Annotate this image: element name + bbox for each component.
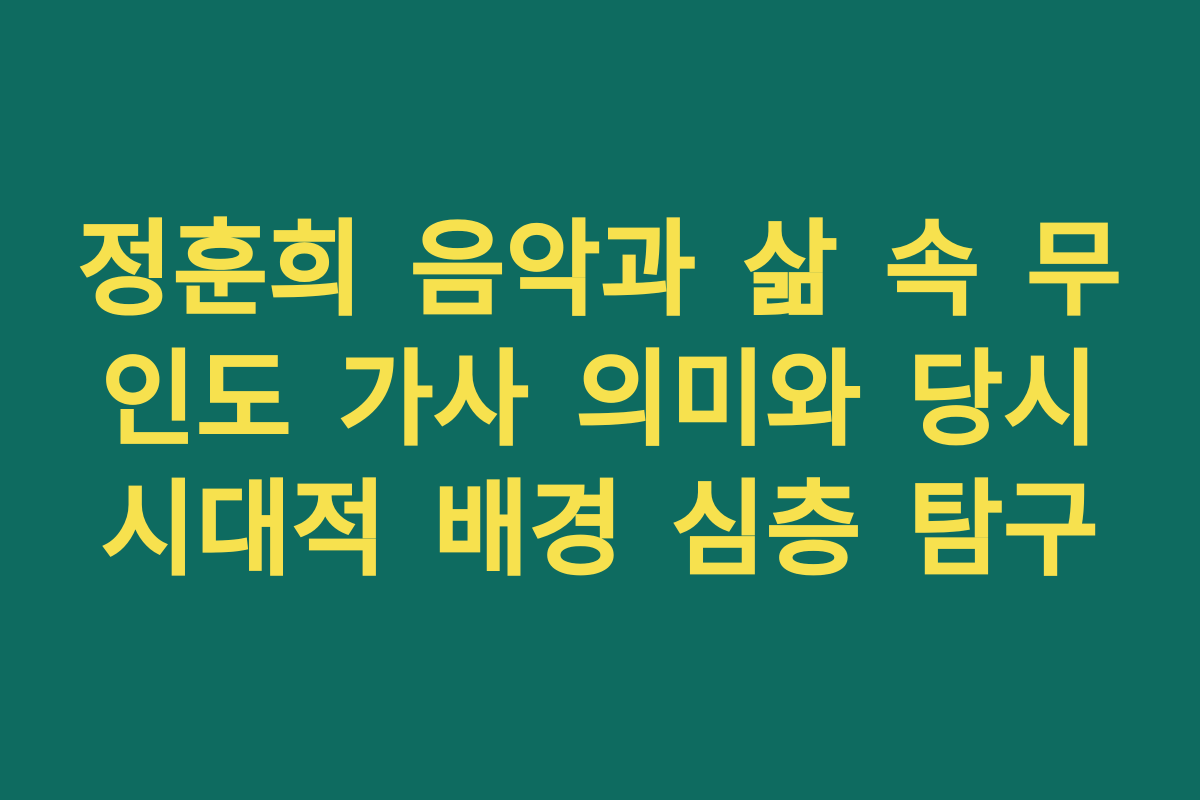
headline-line-1: 정훈희 음악과 삶 속 무 (70, 205, 1130, 335)
headline-line-3: 시대적 배경 심층 탐구 (70, 465, 1130, 595)
page-title: 정훈희 음악과 삶 속 무 인도 가사 의미와 당시 시대적 배경 심층 탐구 (70, 205, 1130, 595)
headline-line-2: 인도 가사 의미와 당시 (70, 335, 1130, 465)
text-card: 정훈희 음악과 삶 속 무 인도 가사 의미와 당시 시대적 배경 심층 탐구 (0, 0, 1200, 800)
